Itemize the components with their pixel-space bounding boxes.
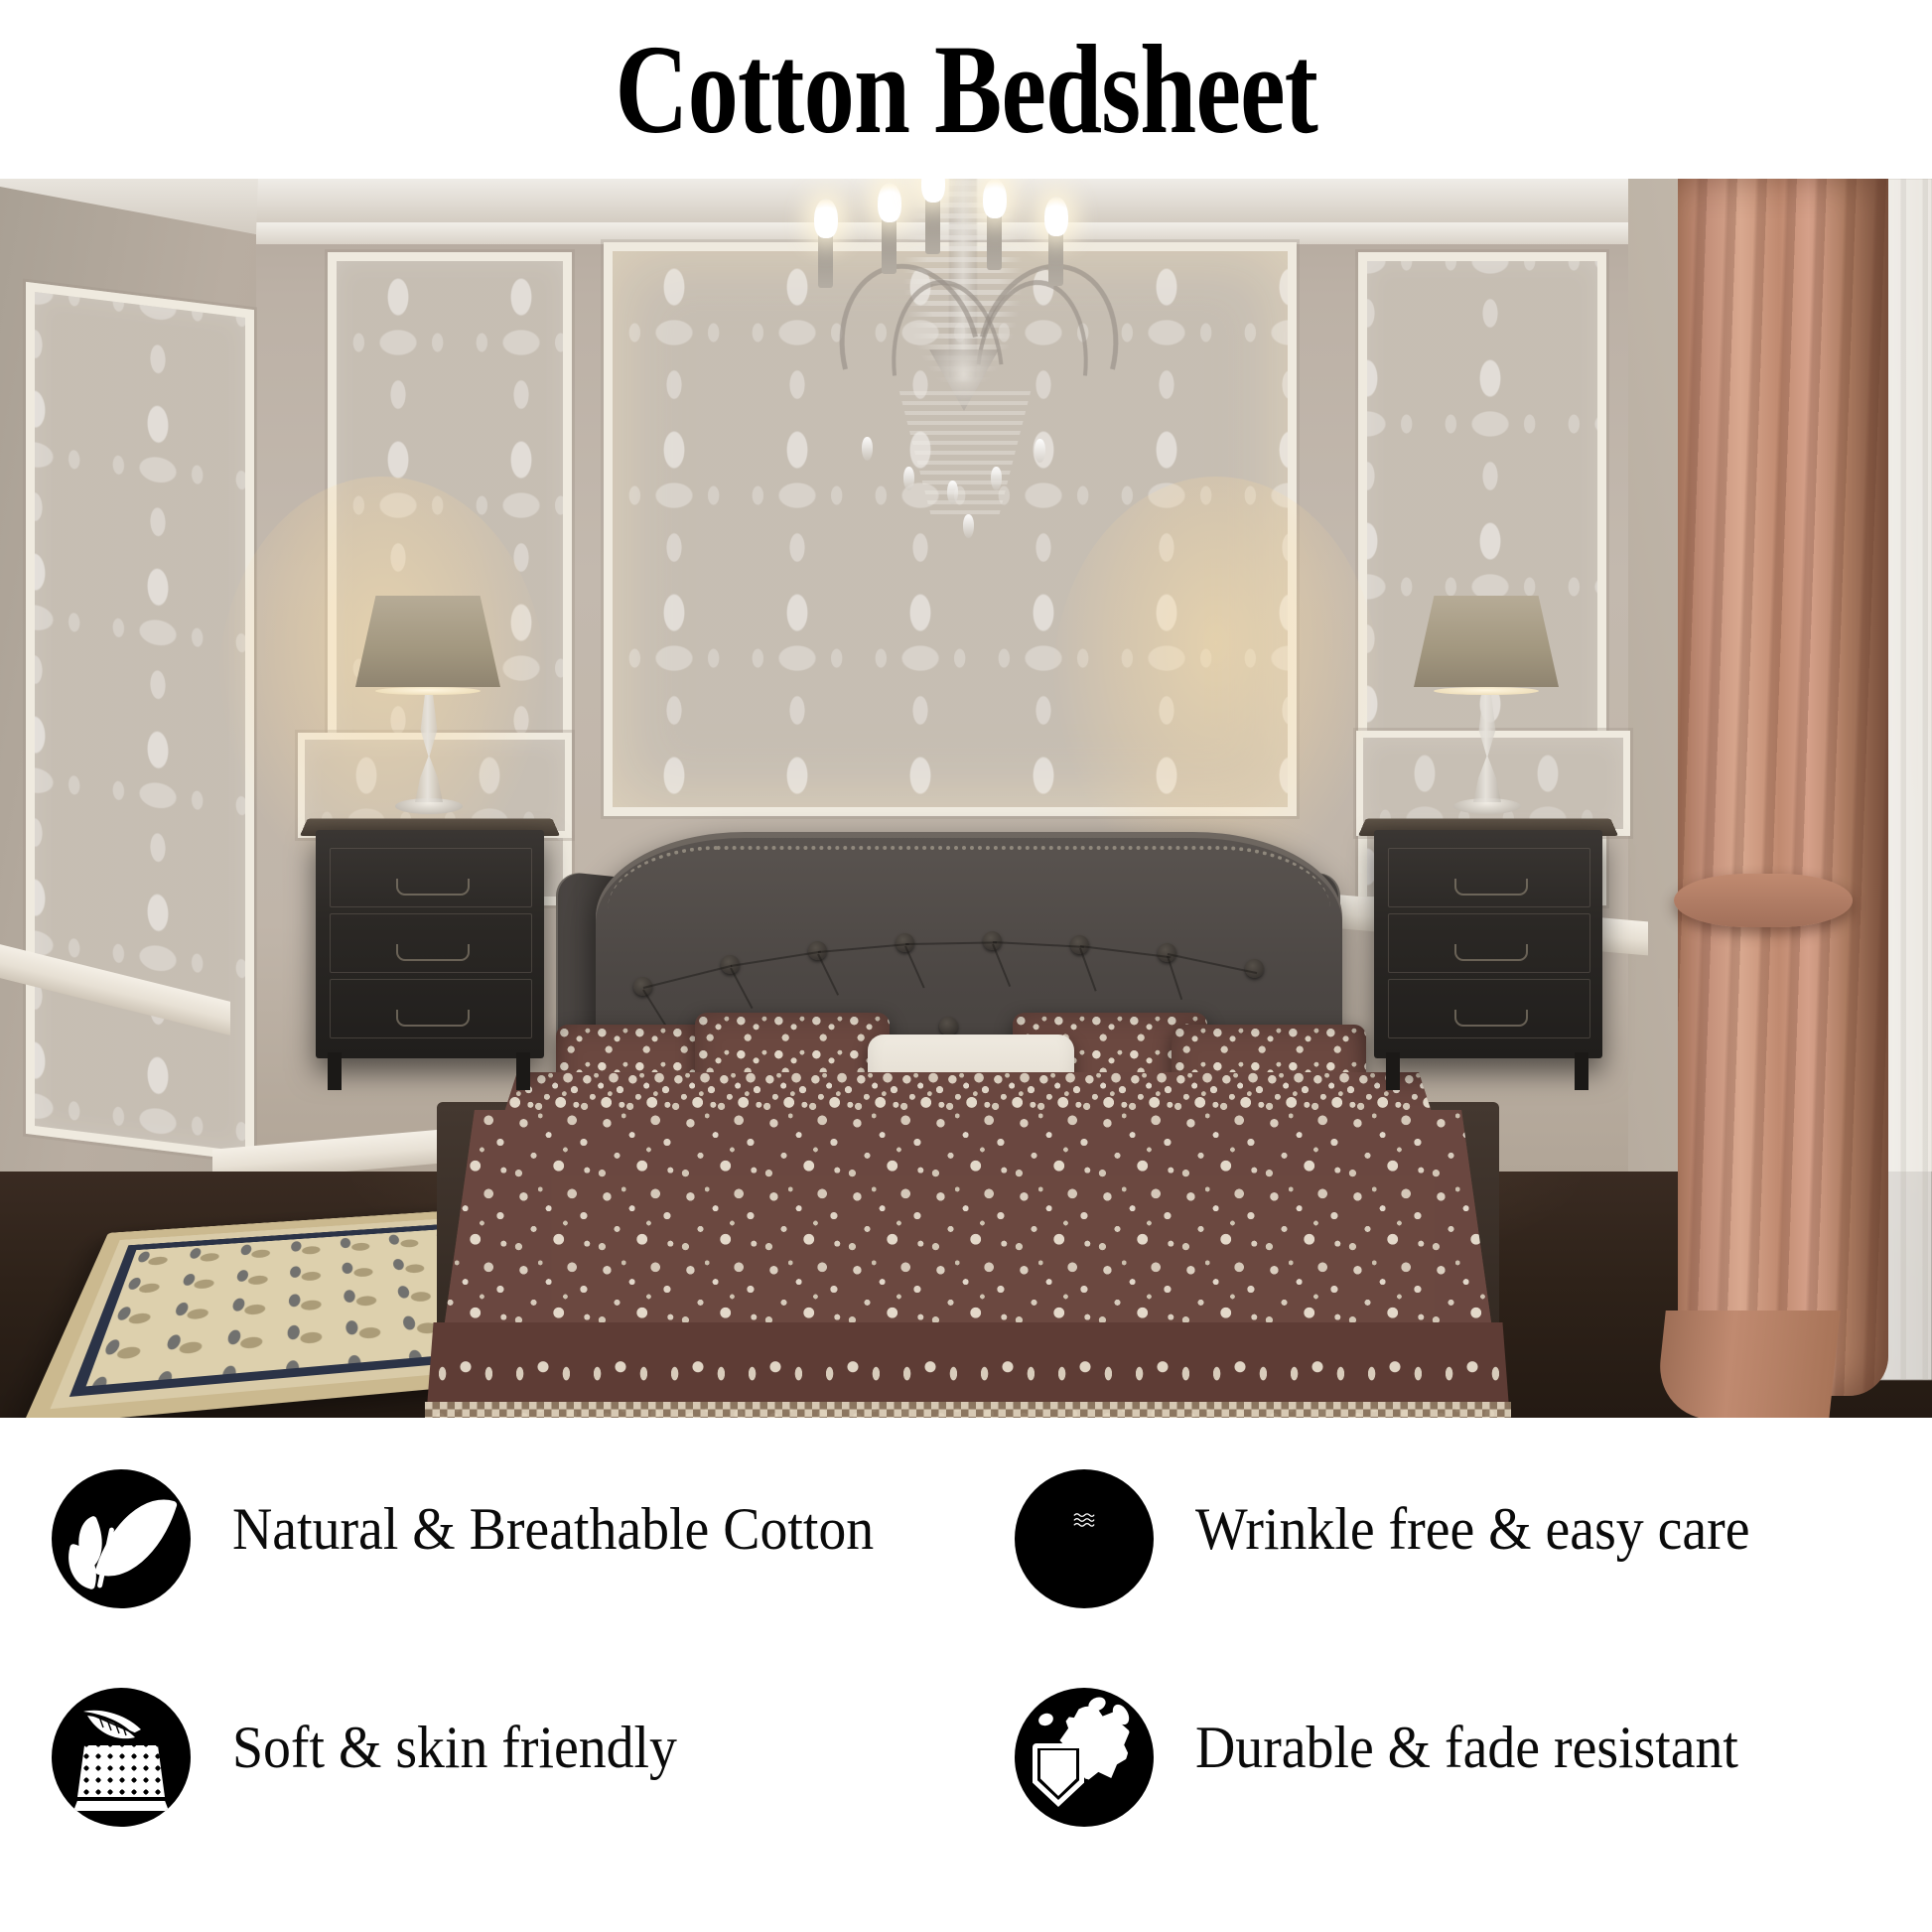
drawer-handle-icon bbox=[396, 1010, 470, 1027]
leaf-icon bbox=[52, 1469, 191, 1608]
nightstand-leg bbox=[328, 1052, 342, 1090]
bedsheet-floral-border-band bbox=[427, 1322, 1509, 1408]
crystal-drop bbox=[1035, 439, 1045, 463]
lamp-finial-left bbox=[375, 687, 481, 695]
nightstand-leg bbox=[516, 1052, 530, 1090]
page-title: Cotton Bedsheet bbox=[615, 26, 1317, 153]
curtain-folds bbox=[1678, 179, 1888, 1396]
lamp-shade-left[interactable] bbox=[355, 596, 500, 687]
nightstand-drawer[interactable] bbox=[330, 913, 532, 973]
nightstand-drawer[interactable] bbox=[330, 848, 532, 907]
bedsheet-check-band bbox=[425, 1402, 1511, 1418]
chandelier-bulb bbox=[1044, 197, 1068, 236]
chandelier-bulb bbox=[814, 199, 838, 238]
nightstand-drawer[interactable] bbox=[1388, 979, 1590, 1038]
waves-icon bbox=[1015, 1469, 1154, 1608]
chandelier-bulb bbox=[921, 179, 945, 203]
headboard-nailhead-trim bbox=[608, 846, 1330, 909]
feature-label: Wrinkle free & easy care bbox=[1195, 1469, 1750, 1565]
nightstand-leg bbox=[1575, 1052, 1588, 1090]
product-infographic: Cotton Bedsheet bbox=[0, 0, 1932, 1932]
waves-glyph bbox=[1036, 1513, 1132, 1527]
feature-label: Natural & Breathable Cotton bbox=[232, 1469, 874, 1565]
lamp-shade-right[interactable] bbox=[1414, 596, 1559, 687]
crystal-drop bbox=[862, 437, 873, 461]
crystal-drop bbox=[963, 514, 974, 538]
feature-list: Natural & Breathable Cotton Wrinkle free… bbox=[0, 1418, 1932, 1932]
crystal-drop bbox=[903, 467, 914, 490]
feature-label: Durable & fade resistant bbox=[1195, 1688, 1738, 1783]
nightstand-left bbox=[316, 830, 544, 1058]
curtain-tieback[interactable] bbox=[1674, 874, 1853, 927]
nightstand-drawer[interactable] bbox=[330, 979, 532, 1038]
chandelier-candle bbox=[1048, 228, 1063, 286]
crystal-drop bbox=[991, 467, 1002, 490]
lamp-finial-right bbox=[1434, 687, 1539, 695]
drawer-handle-icon bbox=[1454, 1010, 1528, 1027]
nightstand-drawer[interactable] bbox=[1388, 913, 1590, 973]
chandelier-candle bbox=[925, 197, 940, 254]
chandelier-bulb bbox=[983, 179, 1007, 218]
feature-label: Soft & skin friendly bbox=[232, 1688, 677, 1783]
feather-fabric-icon bbox=[52, 1688, 191, 1827]
nightstand-right bbox=[1374, 830, 1602, 1058]
drawer-handle-icon bbox=[396, 879, 470, 896]
chandelier-candle bbox=[882, 216, 897, 274]
feature-durable-fade-resistant[interactable]: Durable & fade resistant bbox=[1015, 1688, 1908, 1827]
nightstand-leg bbox=[1386, 1052, 1400, 1090]
nightstand-drawer[interactable] bbox=[1388, 848, 1590, 907]
drawer-handle-icon bbox=[396, 944, 470, 961]
feature-soft-skin-friendly[interactable]: Soft & skin friendly bbox=[52, 1688, 925, 1827]
feather-glyph bbox=[79, 1708, 145, 1747]
shield-splash-icon bbox=[1015, 1688, 1154, 1827]
crystal-drop bbox=[947, 481, 958, 504]
chandelier bbox=[755, 179, 1172, 570]
chandelier-bulb bbox=[878, 183, 901, 222]
feature-wrinkle-free[interactable]: Wrinkle free & easy care bbox=[1015, 1469, 1908, 1608]
bedroom-hero-photo bbox=[0, 179, 1932, 1418]
chandelier-candle bbox=[818, 230, 833, 288]
chandelier-candle bbox=[987, 212, 1002, 270]
chandelier-crystal-skirt bbox=[874, 391, 1056, 520]
title-bar: Cotton Bedsheet bbox=[0, 0, 1932, 179]
drawer-handle-icon bbox=[1454, 879, 1528, 896]
curtain-hem bbox=[1654, 1311, 1841, 1418]
drawer-handle-icon bbox=[1454, 944, 1528, 961]
feature-natural-breathable[interactable]: Natural & Breathable Cotton bbox=[52, 1469, 925, 1608]
